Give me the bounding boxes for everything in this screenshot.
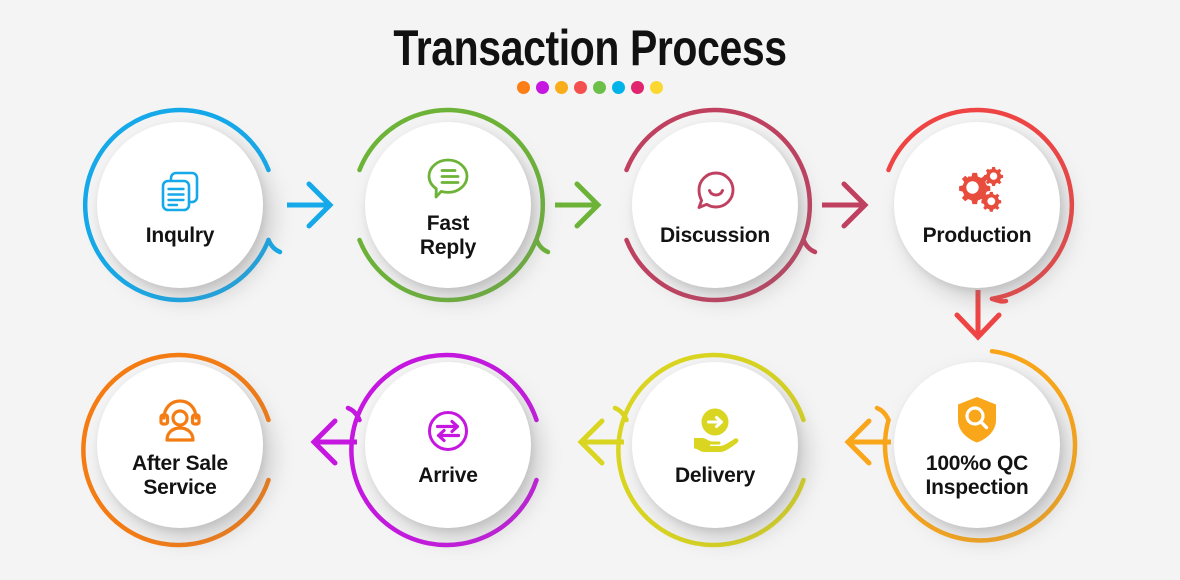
step-label-line-2: Reply [420, 236, 476, 260]
dot-divider [0, 80, 1180, 94]
chat-bubble-smile-icon [684, 162, 746, 220]
step-node-fast-reply[interactable]: Fast Reply [343, 100, 553, 310]
step-node-discussion[interactable]: Discussion [610, 100, 820, 310]
step-node-inquiry[interactable]: Inqulry [75, 100, 285, 310]
dot-amber [555, 81, 568, 94]
step-node-delivery[interactable]: Delivery [610, 340, 820, 550]
connector-discussion-to-production [820, 175, 880, 235]
step-label-fast-reply: Fast Reply [420, 212, 476, 260]
dot-green [593, 81, 606, 94]
step-disc-discussion: Discussion [632, 122, 798, 288]
page-title: Transaction Process [106, 18, 1074, 78]
step-disc-after-sale-service: After Sale Service [97, 362, 263, 528]
gears-icon [946, 162, 1008, 220]
hand-delivery-icon [684, 402, 746, 460]
step-label-after-sale-service: After Sale Service [132, 452, 228, 500]
step-disc-inquiry: Inqulry [97, 122, 263, 288]
step-label-line-2: Inspection [925, 476, 1028, 500]
chat-bubble-lines-icon [417, 150, 479, 208]
connector-inquiry-to-fast-reply [285, 175, 345, 235]
step-label-discussion: Discussion [660, 224, 770, 248]
step-disc-fast-reply: Fast Reply [365, 122, 531, 288]
step-label-line-1: Fast [420, 212, 476, 236]
step-label-production: Production [923, 224, 1032, 248]
step-disc-arrive: Arrive [365, 362, 531, 528]
connector-fast-reply-to-discussion [553, 175, 613, 235]
infographic-canvas: Transaction Process [0, 0, 1180, 580]
step-label-inquiry: Inqulry [146, 224, 215, 248]
step-disc-qc-inspection: 100%o QC Inspection [894, 362, 1060, 528]
dot-cyan [612, 81, 625, 94]
step-label-line-2: Service [132, 476, 228, 500]
step-label-delivery: Delivery [675, 464, 755, 488]
dot-purple [536, 81, 549, 94]
dot-yellow [650, 81, 663, 94]
step-node-arrive[interactable]: Arrive [343, 340, 553, 550]
step-disc-delivery: Delivery [632, 362, 798, 528]
shield-search-icon [946, 390, 1008, 448]
support-headset-icon [149, 390, 211, 448]
step-node-production[interactable]: Production [872, 100, 1082, 310]
exchange-circle-icon [417, 402, 479, 460]
dot-orange [517, 81, 530, 94]
step-label-arrive: Arrive [418, 464, 478, 488]
step-label-line-1: After Sale [132, 452, 228, 476]
step-node-after-sale-service[interactable]: After Sale Service [75, 340, 285, 550]
dot-pink [631, 81, 644, 94]
step-label-qc-inspection: 100%o QC Inspection [925, 452, 1028, 500]
documents-icon [149, 162, 211, 220]
dot-red [574, 81, 587, 94]
step-label-line-1: 100%o QC [925, 452, 1028, 476]
step-node-qc-inspection[interactable]: 100%o QC Inspection [872, 340, 1082, 550]
step-disc-production: Production [894, 122, 1060, 288]
title-block: Transaction Process [0, 18, 1180, 94]
